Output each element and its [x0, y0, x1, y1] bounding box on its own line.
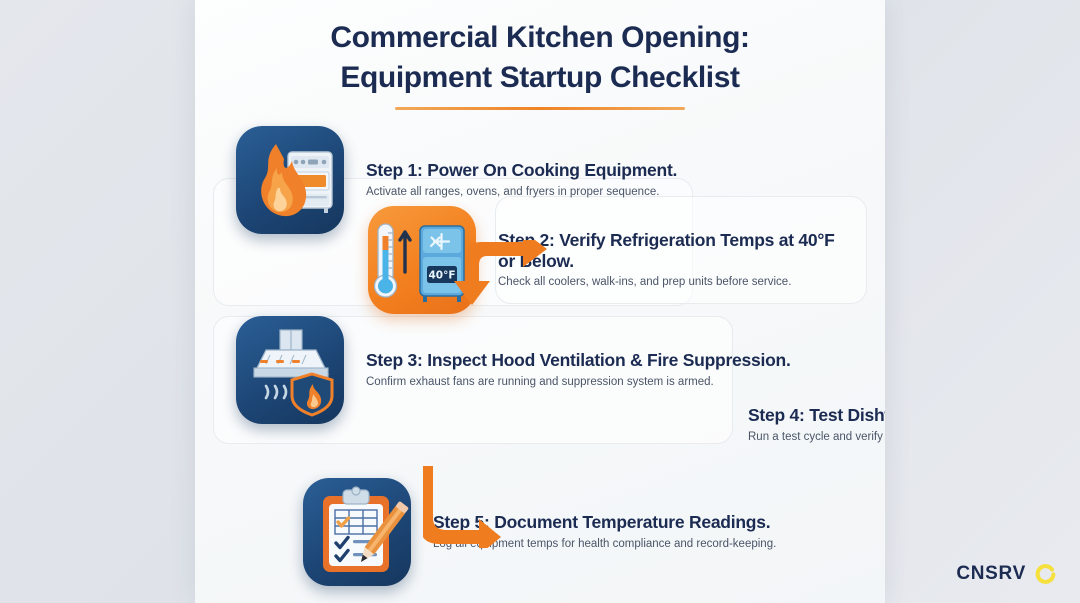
- arrow-step4-to-step5: [423, 462, 509, 553]
- step-row-4[interactable]: Step 4: Test Dishwashers & Pilot Lights.…: [748, 371, 885, 479]
- step-heading-3: Step 3: Inspect Hood Ventilation & Fire …: [366, 350, 791, 371]
- range-hood-fire-shield-icon: [236, 316, 344, 424]
- page-title: Commercial Kitchen Opening: Equipment St…: [195, 18, 885, 110]
- step-text-4: Step 4: Test Dishwashers & Pilot Lights.…: [748, 405, 885, 444]
- refrigerator-temp-readout: 40°F: [428, 270, 455, 282]
- watermark-text: CNSRV: [956, 563, 1026, 585]
- step-subtext-1: Activate all ranges, ovens, and fryers i…: [366, 185, 677, 200]
- infographic-panel: Commercial Kitchen Opening: Equipment St…: [195, 0, 885, 603]
- step-subtext-3: Confirm exhaust fans are running and sup…: [366, 375, 791, 390]
- step-row-3[interactable]: Step 3: Inspect Hood Ventilation & Fire …: [236, 316, 791, 424]
- title-line-2: Equipment Startup Checklist: [195, 58, 885, 98]
- title-underline-rule: [395, 107, 685, 111]
- title-line-1: Commercial Kitchen Opening:: [195, 18, 885, 58]
- ring-logo-icon: [1035, 564, 1056, 585]
- watermark: CNSRV: [956, 563, 1056, 585]
- step-subtext-4: Run a test cycle and verify all pilot li…: [748, 430, 885, 445]
- arrow-step3-to-step4: [883, 355, 885, 422]
- step-heading-1: Step 1: Power On Cooking Equipment.: [366, 160, 677, 181]
- step-row-2[interactable]: 40°F Step 2: Verify Refrigeration Temps …: [368, 206, 838, 314]
- clipboard-pencil-checklist-icon: [303, 478, 411, 586]
- step-heading-4: Step 4: Test Dishwashers & Pilot Lights.: [748, 405, 885, 426]
- step-text-1: Step 1: Power On Cooking Equipment. Acti…: [344, 160, 677, 199]
- step-text-3: Step 3: Inspect Hood Ventilation & Fire …: [344, 350, 791, 389]
- step-row-5[interactable]: Step 5: Document Temperature Readings. L…: [303, 478, 776, 586]
- flame-range-icon: [236, 126, 344, 234]
- arrow-step2-branch: [453, 240, 577, 323]
